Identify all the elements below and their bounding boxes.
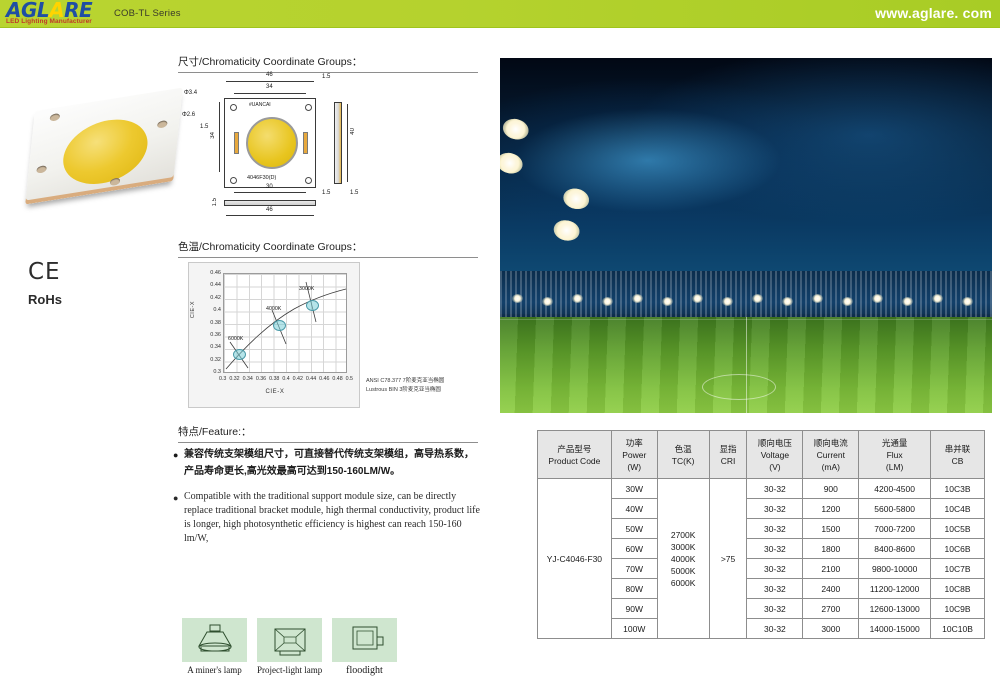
- solder-pad: [303, 132, 308, 154]
- cell-current: 900: [803, 479, 859, 499]
- rohs-mark-icon: RoHs: [28, 292, 62, 307]
- cell-cb: 10C6B: [931, 539, 985, 559]
- cell-power: 30W: [611, 479, 657, 499]
- perimeter-light: [632, 294, 643, 303]
- perimeter-light: [752, 294, 763, 303]
- chart-y-tick: 0.44: [197, 282, 221, 288]
- dim-edge-2: 1.5: [200, 124, 208, 130]
- chart-plot-area: 6000K 4000K 3000K: [223, 273, 347, 373]
- chart-y-tick: 0.42: [197, 295, 221, 301]
- cell-current: 2700: [803, 599, 859, 619]
- package-side-view: [334, 102, 342, 184]
- cell-power: 100W: [611, 619, 657, 639]
- perimeter-light: [962, 297, 973, 306]
- application-label: A miner's lamp: [182, 665, 247, 675]
- dim-left-height: 34: [210, 132, 216, 139]
- cell-voltage: 30-32: [747, 599, 803, 619]
- application-item[interactable]: A miner's lamp: [182, 618, 247, 676]
- chart-x-ticks: 0.30.320.340.360.380.40.420.440.460.480.…: [219, 376, 353, 382]
- table-header: 产品型号Product Code功率Power(W)色温TC(K)显指CRI顺向…: [538, 431, 985, 479]
- col-header-en: Product Code: [540, 455, 609, 467]
- bullet-icon: ●: [173, 491, 178, 505]
- col-header-en: CB: [933, 455, 982, 467]
- feature-text-english-wrap: ●Compatible with the traditional support…: [182, 490, 482, 546]
- cell-color-temperature: 2700K3000K4000K5000K6000K: [657, 479, 709, 639]
- chart-label-3000k: 3000K: [299, 286, 314, 292]
- col-header-unit: (LM): [861, 461, 928, 473]
- cell-flux: 14000-15000: [859, 619, 931, 639]
- website-url[interactable]: www.aglare. com: [875, 5, 992, 21]
- product-photo: [22, 82, 187, 207]
- perimeter-light: [512, 294, 523, 303]
- chart-y-tick: 0.4: [197, 307, 221, 313]
- perimeter-light: [842, 297, 853, 306]
- cell-current: 1500: [803, 519, 859, 539]
- col-header-cn: 顺向电流: [805, 437, 856, 449]
- table-row[interactable]: YJ-C4046-F3030W2700K3000K4000K5000K6000K…: [538, 479, 985, 499]
- chart-x-tick: 0.38: [269, 376, 279, 382]
- chart-x-tick: 0.36: [256, 376, 266, 382]
- cell-voltage: 30-32: [747, 579, 803, 599]
- cell-voltage: 30-32: [747, 559, 803, 579]
- cell-cb: 10C9B: [931, 599, 985, 619]
- dim-edge-3: 1.5: [212, 198, 218, 206]
- emitting-surface: [246, 117, 298, 169]
- col-header-en: Voltage: [749, 449, 800, 461]
- col-header-cn: 色温: [660, 443, 707, 455]
- chart-x-tick: 0.34: [243, 376, 253, 382]
- mounting-hole: [110, 177, 121, 186]
- mounting-hole: [36, 165, 47, 174]
- chart-point-4000k: [273, 320, 286, 331]
- chart-y-tick: 0.3: [197, 369, 221, 375]
- perimeter-light: [932, 294, 943, 303]
- mounting-hole: [305, 177, 312, 184]
- cell-power: 90W: [611, 599, 657, 619]
- mounting-hole: [157, 120, 168, 129]
- cell-flux: 7000-7200: [859, 519, 931, 539]
- dim-top-width: 46: [266, 72, 273, 78]
- dim-hole-dia-2: Φ2.6: [182, 112, 195, 118]
- col-header-en: CRI: [712, 455, 745, 467]
- dim-inner-width: 34: [266, 84, 273, 90]
- chart-x-tick: 0.44: [306, 376, 316, 382]
- dim-side-height: 40: [350, 128, 356, 135]
- cell-cb: 10C8B: [931, 579, 985, 599]
- logo-wordmark: AGLARE: [6, 1, 114, 19]
- dimension-drawing: 46 34 1.5 Φ3.4 Φ2.6 1.5 34 #UANCAI 4046F…: [182, 72, 372, 227]
- cell-current: 2100: [803, 559, 859, 579]
- cell-cb: 10C7B: [931, 559, 985, 579]
- perimeter-light: [692, 294, 703, 303]
- chart-x-tick: 0.4: [282, 376, 289, 382]
- cell-voltage: 30-32: [747, 479, 803, 499]
- solder-pad: [234, 132, 239, 154]
- datasheet-page: AGLARE LED Lighting Manufacturer COB-TL …: [0, 0, 1000, 684]
- chart-x-tick: 0.48: [332, 376, 342, 382]
- project-light-lamp-icon: [257, 618, 322, 662]
- perimeter-light: [902, 297, 913, 306]
- specification-table: 产品型号Product Code功率Power(W)色温TC(K)显指CRI顺向…: [537, 430, 985, 639]
- chart-y-tick: 0.36: [197, 332, 221, 338]
- col-header-en: Power: [614, 449, 655, 461]
- series-label: COB-TL Series: [114, 8, 181, 19]
- ce-mark-icon: CE: [28, 260, 62, 284]
- application-icons: A miner's lampProject-light lampfloodigh…: [182, 618, 397, 676]
- cell-power: 70W: [611, 559, 657, 579]
- perimeter-light: [812, 294, 823, 303]
- chart-x-tick: 0.42: [293, 376, 303, 382]
- football-pitch: [500, 317, 992, 413]
- table-body: YJ-C4046-F3030W2700K3000K4000K5000K6000K…: [538, 479, 985, 639]
- color-temp-value: 6000K: [660, 577, 707, 589]
- col-header-unit: (mA): [805, 461, 856, 473]
- cell-power: 40W: [611, 499, 657, 519]
- table-column-header: 显指CRI: [709, 431, 747, 479]
- dim-edge-1: 1.5: [322, 74, 330, 80]
- col-header-en: Current: [805, 449, 856, 461]
- miners-lamp-icon: [182, 618, 247, 662]
- dim-edge-5: 1.5: [350, 190, 358, 196]
- mounting-hole: [305, 104, 312, 111]
- company-logo[interactable]: AGLARE LED Lighting Manufacturer: [6, 1, 114, 27]
- part-number-text: 4046F30(D): [247, 175, 276, 181]
- col-header-cn: 串并联: [933, 443, 982, 455]
- dim-circle-width: 30: [266, 184, 273, 190]
- chart-point-6000k: [233, 349, 246, 360]
- feature-text-english: Compatible with the traditional support …: [184, 491, 480, 544]
- chart-label-4000k: 4000K: [266, 306, 281, 312]
- perimeter-light: [872, 294, 883, 303]
- brand-mark-text: #UANCAI: [249, 102, 271, 108]
- dim-bottom-width: 46: [266, 207, 273, 213]
- col-header-cn: 产品型号: [540, 443, 609, 455]
- cell-current: 3000: [803, 619, 859, 639]
- floodlight-icon: [332, 618, 397, 662]
- cell-current: 1200: [803, 499, 859, 519]
- cell-flux: 11200-12000: [859, 579, 931, 599]
- color-temp-value: 5000K: [660, 565, 707, 577]
- feature-text-chinese: 兼容传统支架模组尺寸，可直接替代传统支架模组，高导热系数，产品寿命更长,高光效最…: [184, 449, 474, 477]
- color-temp-value: 3000K: [660, 541, 707, 553]
- col-header-unit: (W): [614, 461, 655, 473]
- cell-flux: 9800-10000: [859, 559, 931, 579]
- cell-power: 50W: [611, 519, 657, 539]
- chart-y-tick: 0.38: [197, 320, 221, 326]
- logo-text-part2: RE: [64, 0, 92, 22]
- cell-flux: 4200-4500: [859, 479, 931, 499]
- cell-voltage: 30-32: [747, 519, 803, 539]
- feature-text-chinese-wrap: ●兼容传统支架模组尺寸，可直接替代传统支架模组，高导热系数，产品寿命更长,高光效…: [182, 446, 482, 480]
- page-header: AGLARE LED Lighting Manufacturer COB-TL …: [0, 0, 1000, 28]
- section-title-cct: 色温/Chromaticity Coordinate Groups：: [178, 239, 478, 258]
- chart-point-3000k: [306, 300, 319, 311]
- col-header-cn: 功率: [614, 437, 655, 449]
- chart-x-tick: 0.46: [319, 376, 329, 382]
- perimeter-light: [542, 297, 553, 306]
- cell-power: 80W: [611, 579, 657, 599]
- table-column-header: 串并联CB: [931, 431, 985, 479]
- col-header-en: TC(K): [660, 455, 707, 467]
- chart-x-tick: 0.32: [229, 376, 239, 382]
- col-header-cn: 顺向电压: [749, 437, 800, 449]
- chart-notes: ANSI C78.377 7阶麦克亚当椭圆 Lustrous BIN 3阶麦克亚…: [366, 377, 444, 395]
- table-column-header: 色温TC(K): [657, 431, 709, 479]
- chart-y-tick: 0.46: [197, 270, 221, 276]
- cell-current: 2400: [803, 579, 859, 599]
- mounting-hole: [49, 113, 60, 122]
- table-column-header: 光通量Flux(LM): [859, 431, 931, 479]
- chip-phosphor-area: [60, 114, 151, 190]
- package-side-base: [224, 200, 316, 206]
- cell-product-code: YJ-C4046-F30: [538, 479, 612, 639]
- certification-marks: CE RoHs: [28, 260, 62, 307]
- application-label: Project-light lamp: [257, 665, 322, 675]
- table-header-row: 产品型号Product Code功率Power(W)色温TC(K)显指CRI顺向…: [538, 431, 985, 479]
- col-header-cn: 光通量: [861, 437, 928, 449]
- col-header-unit: (V): [749, 461, 800, 473]
- chip-substrate: [25, 88, 183, 205]
- cell-cb: 10C3B: [931, 479, 985, 499]
- cell-cb: 10C4B: [931, 499, 985, 519]
- package-outline: #UANCAI 4046F30(D): [224, 98, 316, 188]
- cell-cb: 10C10B: [931, 619, 985, 639]
- perimeter-light: [572, 294, 583, 303]
- table-column-header: 顺向电流Current(mA): [803, 431, 859, 479]
- cell-cb: 10C5B: [931, 519, 985, 539]
- section-title-feature: 特点/Feature:：: [178, 424, 478, 443]
- perimeter-light: [782, 297, 793, 306]
- table-column-header: 功率Power(W): [611, 431, 657, 479]
- cell-voltage: 30-32: [747, 499, 803, 519]
- col-header-en: Flux: [861, 449, 928, 461]
- chart-x-axis-label: CIE-X: [189, 389, 361, 395]
- perimeter-light: [662, 297, 673, 306]
- chart-note-2: Lustrous BIN 3阶麦克亚当椭圆: [366, 386, 444, 395]
- application-label: floodight: [332, 665, 397, 676]
- chart-y-axis-label: CIE-X: [190, 301, 196, 318]
- application-item[interactable]: floodight: [332, 618, 397, 676]
- cell-voltage: 30-32: [747, 539, 803, 559]
- dim-hole-dia-1: Φ3.4: [184, 90, 197, 96]
- section-title-dimensions: 尺寸/Chromaticity Coordinate Groups：: [178, 54, 478, 73]
- application-item[interactable]: Project-light lamp: [257, 618, 322, 676]
- cell-flux: 8400-8600: [859, 539, 931, 559]
- cell-flux: 5600-5800: [859, 499, 931, 519]
- chromaticity-chart: CIE-X 0.460.440.420.40.380.360.340.320.3…: [188, 262, 360, 408]
- perimeter-light: [602, 297, 613, 306]
- chart-label-6000k: 6000K: [228, 336, 243, 342]
- logo-text-part1: AGL: [6, 0, 49, 22]
- bullet-icon: ●: [173, 447, 178, 464]
- cell-cri: >75: [709, 479, 747, 639]
- chart-note-1: ANSI C78.377 7阶麦克亚当椭圆: [366, 377, 444, 386]
- perimeter-light: [722, 297, 733, 306]
- chart-x-tick: 0.3: [219, 376, 226, 382]
- logo-text-accent: A: [49, 0, 64, 22]
- table-column-header: 产品型号Product Code: [538, 431, 612, 479]
- chart-y-tick: 0.32: [197, 357, 221, 363]
- color-temp-value: 2700K: [660, 529, 707, 541]
- mounting-hole: [230, 177, 237, 184]
- stadium-night-floodlights-photo: [500, 58, 992, 413]
- cell-current: 1800: [803, 539, 859, 559]
- table-column-header: 顺向电压Voltage(V): [747, 431, 803, 479]
- col-header-cn: 显指: [712, 443, 745, 455]
- chart-y-tick: 0.34: [197, 344, 221, 350]
- mounting-hole: [230, 104, 237, 111]
- chart-x-tick: 0.5: [346, 376, 353, 382]
- cell-voltage: 30-32: [747, 619, 803, 639]
- cell-power: 60W: [611, 539, 657, 559]
- color-temp-value: 4000K: [660, 553, 707, 565]
- cell-flux: 12600-13000: [859, 599, 931, 619]
- dim-edge-4: 1.5: [322, 190, 330, 196]
